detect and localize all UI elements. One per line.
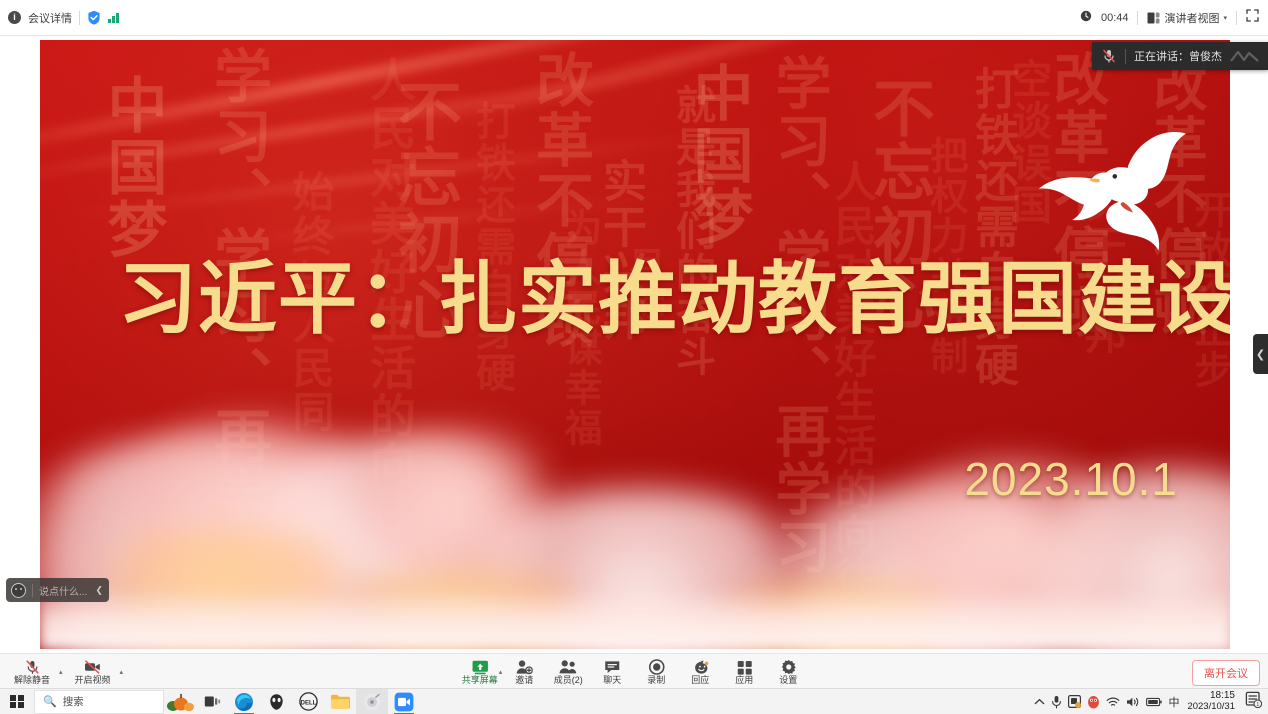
- encryption-shield-icon[interactable]: [87, 10, 101, 25]
- fullscreen-icon[interactable]: [1246, 9, 1259, 27]
- pumpkins-widget-icon[interactable]: [164, 689, 196, 714]
- clock-date: 2023/10/31: [1187, 702, 1235, 713]
- media-app-icon[interactable]: [356, 689, 388, 714]
- record-button[interactable]: 录制: [634, 654, 678, 689]
- clock-icon: [1080, 9, 1092, 27]
- zoom-top-bar: i 会议详情 00:44 演讲者视图 ▾: [0, 0, 1268, 36]
- record-label: 录制: [647, 676, 665, 685]
- top-bar-left-group: i 会议详情: [0, 10, 119, 26]
- gear-icon: [780, 659, 796, 675]
- chat-bubble-icon: [604, 659, 621, 675]
- info-circle-icon[interactable]: i: [8, 11, 21, 24]
- chevron-down-icon: ▾: [1223, 14, 1227, 22]
- network-signal-icon[interactable]: [108, 12, 119, 23]
- divider: [1137, 11, 1138, 25]
- layout-view-icon: [1147, 12, 1160, 24]
- divider: [32, 584, 33, 597]
- windows-start-icon[interactable]: [0, 689, 34, 714]
- bottom-left-controls: 解除静音 ▴ 开启视频 ▴: [6, 654, 123, 689]
- collapse-say-bar-arrow[interactable]: ❮: [95, 585, 103, 596]
- share-screen-icon: [471, 659, 488, 675]
- leave-meeting-button[interactable]: 离开会议: [1192, 660, 1260, 686]
- bottom-right-controls: 离开会议: [1192, 660, 1260, 686]
- slide-title: 习近平：扎实推动教育强国建设: [118, 256, 1188, 343]
- meeting-info-label[interactable]: 会议详情: [28, 10, 72, 26]
- unmute-label: 解除静音: [14, 676, 50, 685]
- apps-label: 应用: [735, 676, 753, 685]
- view-mode-button[interactable]: 演讲者视图 ▾: [1147, 10, 1227, 26]
- collapse-panel-arrow[interactable]: ❮: [1253, 334, 1268, 374]
- active-speaker-chip[interactable]: 正在讲话：曾俊杰: [1092, 42, 1268, 70]
- share-screen-button[interactable]: 共享屏幕: [458, 654, 502, 689]
- audio-options-chevron[interactable]: ▴: [59, 668, 63, 676]
- mic-muted-icon: [25, 659, 40, 675]
- participants-label: 成员(2): [554, 676, 583, 685]
- search-placeholder: 搜索: [63, 694, 84, 709]
- mic-muted-icon: [1101, 48, 1117, 64]
- presentation-slide: 中国梦 学习、学习、再学习 始终与人民同 人民对美好生活的向往 不忘初心 打铁还…: [40, 40, 1230, 649]
- volume-icon[interactable]: [1126, 696, 1140, 708]
- divider: [1125, 49, 1126, 64]
- dell-icon[interactable]: DELL: [292, 689, 324, 714]
- graphics-icon[interactable]: [1068, 695, 1081, 708]
- participants-icon: [559, 659, 578, 675]
- meeting-timer: 00:44: [1101, 12, 1129, 24]
- video-off-icon: [84, 659, 101, 675]
- battery-icon[interactable]: [1146, 697, 1162, 707]
- notification-count: 1: [1256, 702, 1259, 708]
- unmute-button[interactable]: 解除静音: [6, 654, 58, 689]
- participants-button[interactable]: 成员(2): [546, 654, 590, 689]
- search-input[interactable]: 🔍 搜索: [34, 690, 164, 714]
- emoji-face-icon[interactable]: [11, 583, 26, 598]
- taskbar-clock[interactable]: 18:15 2023/10/31: [1187, 690, 1235, 712]
- reactions-icon: [691, 659, 709, 675]
- video-options-chevron[interactable]: ▴: [120, 668, 124, 676]
- action-center-icon[interactable]: 1: [1245, 691, 1262, 713]
- svg-text:DELL: DELL: [300, 700, 316, 706]
- screen-root: i 会议详情 00:44 演讲者视图 ▾: [0, 0, 1268, 714]
- invite-person-icon: [516, 659, 533, 675]
- bottom-center-controls: 共享屏幕 ▴ 邀请 成员(2) 聊天: [458, 654, 811, 689]
- start-video-label: 开启视频: [75, 676, 111, 685]
- say-something-input[interactable]: 说点什么...: [39, 583, 87, 598]
- invite-label: 邀请: [515, 676, 533, 685]
- taskbar-pinned-apps: DELL: [164, 689, 420, 714]
- invite-button[interactable]: 邀请: [502, 654, 546, 689]
- divider: [79, 11, 80, 25]
- audio-wave-icon: [1230, 48, 1260, 64]
- share-screen-label: 共享屏幕: [462, 676, 498, 685]
- system-tray: 中 18:15 2023/10/31 1: [1034, 689, 1268, 714]
- slide-date: 2023.10.1: [964, 452, 1178, 506]
- search-icon: 🔍: [43, 695, 57, 708]
- qq-penguin-icon[interactable]: [1087, 695, 1100, 709]
- chat-button[interactable]: 聊天: [590, 654, 634, 689]
- alienware-icon[interactable]: [260, 689, 292, 714]
- settings-button[interactable]: 设置: [766, 654, 810, 689]
- record-icon: [648, 659, 664, 675]
- speaker-name-label: 正在讲话：曾俊杰: [1134, 48, 1222, 64]
- cloud-band-decoration: [40, 379, 1230, 649]
- top-bar-right-group: 00:44 演讲者视图 ▾: [1080, 9, 1268, 27]
- divider: [1236, 11, 1237, 25]
- windows-taskbar: 🔍 搜索 DELL: [0, 688, 1268, 714]
- ime-indicator[interactable]: 中: [1168, 694, 1179, 710]
- task-view-icon[interactable]: [196, 689, 228, 714]
- apps-grid-icon: [736, 659, 752, 675]
- apps-button[interactable]: 应用: [722, 654, 766, 689]
- microphone-icon[interactable]: [1051, 695, 1062, 709]
- zoom-app-icon[interactable]: [388, 689, 420, 714]
- microsoft-edge-icon[interactable]: [228, 689, 260, 714]
- reactions-label: 回应: [691, 676, 709, 685]
- stage-left-gutter: [0, 36, 40, 653]
- zoom-bottom-toolbar: 解除静音 ▴ 开启视频 ▴ 共享屏幕 ▴: [0, 653, 1268, 688]
- peace-dove-icon: [1016, 88, 1206, 278]
- wifi-icon[interactable]: [1106, 696, 1120, 708]
- reactions-button[interactable]: 回应: [678, 654, 722, 689]
- settings-label: 设置: [779, 676, 797, 685]
- shared-screen-stage: 中国梦 学习、学习、再学习 始终与人民同 人民对美好生活的向往 不忘初心 打铁还…: [0, 36, 1268, 653]
- view-mode-label: 演讲者视图: [1164, 10, 1219, 26]
- say-something-bar[interactable]: 说点什么... ❮: [6, 578, 109, 602]
- file-explorer-icon[interactable]: [324, 689, 356, 714]
- chat-label: 聊天: [603, 676, 621, 685]
- show-hidden-icons-chevron[interactable]: [1034, 698, 1045, 706]
- start-video-button[interactable]: 开启视频: [67, 654, 119, 689]
